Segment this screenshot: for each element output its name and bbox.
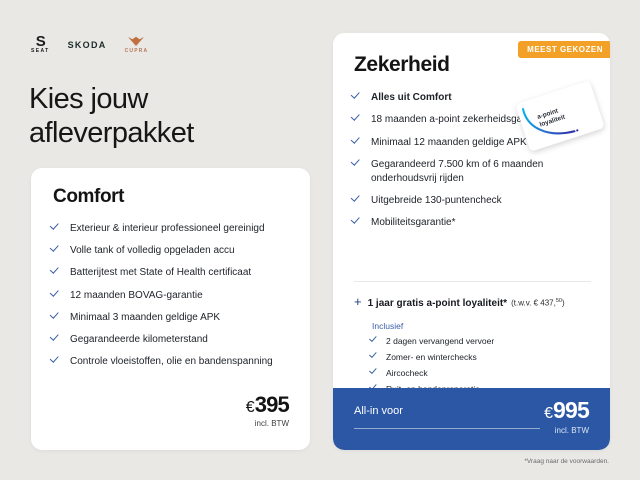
list-item: Volle tank of volledig opgeladen accu <box>53 244 291 257</box>
footnote: *Vraag naar de voorwaarden. <box>524 458 609 465</box>
list-item: Zomer- en winterchecks <box>372 352 552 362</box>
list-item: Exterieur & interieur professioneel gere… <box>53 222 291 235</box>
check-icon <box>372 338 380 345</box>
loyalty-title: 1 jaar gratis a-point loyaliteit* <box>368 298 507 309</box>
list-item: 2 dagen vervangend vervoer <box>372 336 552 346</box>
check-icon <box>53 268 63 276</box>
brand-logo-bar: S SEAT SKODA CUPRA <box>31 36 148 54</box>
check-icon <box>53 313 63 321</box>
list-item: Uitgebreide 130-puntencheck <box>354 194 594 207</box>
check-icon <box>354 160 364 168</box>
list-item: Minimaal 3 maanden geldige APK <box>53 311 291 324</box>
check-icon <box>354 138 364 146</box>
check-icon <box>354 196 364 204</box>
list-item: Mobiliteitsgarantie* <box>354 216 594 229</box>
check-icon <box>53 246 63 254</box>
list-item: Gegarandeerd 7.500 km of 6 maanden onder… <box>354 158 594 185</box>
check-icon <box>53 291 63 299</box>
check-icon <box>372 370 380 377</box>
list-item: Minimaal 12 maanden geldige APK <box>354 136 594 149</box>
promo-page: S SEAT SKODA CUPRA Kies jouw afleverpakk… <box>0 0 640 480</box>
comfort-price-block: €395 incl. BTW <box>246 394 289 428</box>
currency-symbol: € <box>544 405 553 422</box>
footer-rule <box>354 428 540 429</box>
cupra-emblem-icon <box>127 36 145 47</box>
zekerheid-feature-list: Alles uit Comfort 18 maanden a-point zek… <box>354 91 594 239</box>
list-item: 18 maanden a-point zekerheidsgarantie <box>354 113 594 126</box>
zekerheid-price-amount: 995 <box>553 397 589 423</box>
check-icon <box>354 115 364 123</box>
comfort-package-card[interactable]: Comfort Exterieur & interieur profession… <box>31 168 310 450</box>
zekerheid-title: Zekerheid <box>354 53 450 77</box>
plus-icon: + <box>354 295 362 308</box>
comfort-price-amount: 395 <box>255 392 289 417</box>
skoda-logo: SKODA <box>68 40 107 50</box>
loyalty-headline: + 1 jaar gratis a-point loyaliteit* (t.w… <box>354 295 602 309</box>
all-in-label: All-in voor <box>354 405 403 417</box>
zekerheid-price: €995 <box>544 399 589 422</box>
list-item: Alles uit Comfort <box>354 91 594 104</box>
zekerheid-package-card[interactable]: MEEST GEKOZEN Zekerheid Alles uit Comfor… <box>333 33 610 450</box>
zekerheid-price-footer: All-in voor €995 incl. BTW <box>333 388 610 450</box>
status-badge: MEEST GEKOZEN <box>518 41 610 58</box>
seat-logo-label: SEAT <box>31 48 50 54</box>
comfort-title: Comfort <box>53 186 124 208</box>
list-item: Controle vloeistoffen, olie en bandenspa… <box>53 355 291 368</box>
comfort-feature-list: Exterieur & interieur professioneel gere… <box>53 222 291 377</box>
inclusief-list: 2 dagen vervangend vervoer Zomer- en win… <box>372 336 552 394</box>
currency-symbol: € <box>246 399 255 416</box>
section-divider <box>354 281 591 282</box>
page-title: Kies jouw afleverpakket <box>29 82 319 150</box>
seat-logo: S SEAT <box>31 36 50 54</box>
cupra-logo-label: CUPRA <box>125 48 149 54</box>
comfort-price-note: incl. BTW <box>246 419 289 428</box>
cupra-logo: CUPRA <box>125 36 149 54</box>
check-icon <box>372 354 380 361</box>
check-icon <box>53 335 63 343</box>
check-icon <box>354 218 364 226</box>
check-icon <box>53 357 63 365</box>
comfort-price: €395 <box>246 394 289 416</box>
list-item: Batterijtest met State of Health certifi… <box>53 266 291 279</box>
list-item: 12 maanden BOVAG-garantie <box>53 289 291 302</box>
inclusief-label: Inclusief <box>372 321 552 331</box>
loyalty-value: (t.w.v. € 437,50) <box>511 298 565 308</box>
zekerheid-price-note: incl. BTW <box>555 426 589 435</box>
check-icon <box>53 224 63 232</box>
check-icon <box>354 93 364 101</box>
seat-logo-mark: S <box>36 36 45 47</box>
list-item: Aircocheck <box>372 368 552 378</box>
list-item: Gegarandeerde kilometerstand <box>53 333 291 346</box>
